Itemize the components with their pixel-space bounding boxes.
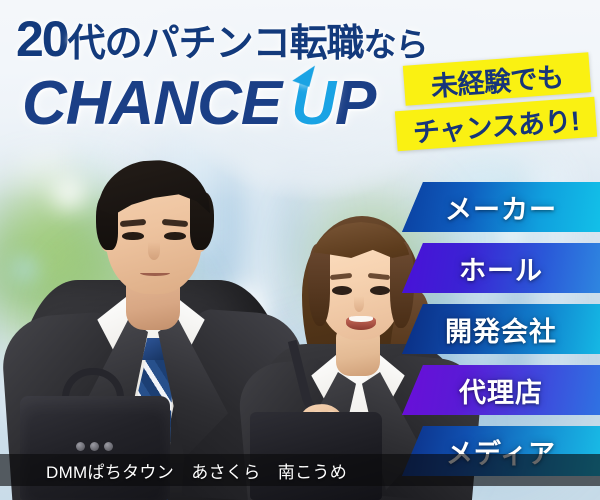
category-label: 開発会社 bbox=[445, 310, 557, 349]
headline-tail: なら bbox=[364, 26, 428, 63]
category-button-agency[interactable]: 代理店 bbox=[402, 365, 600, 415]
man-mouth bbox=[140, 270, 170, 276]
woman-nose bbox=[354, 296, 364, 312]
advertisement-banner[interactable]: 20代のパチンコ転職なら CHANCEUP 未経験でも チャンスあり! メーカー… bbox=[0, 0, 600, 500]
category-button-maker[interactable]: メーカー bbox=[402, 182, 600, 232]
caption-text: DMMぱちタウン あさくら 南こうめ bbox=[46, 458, 347, 483]
headline: 20代のパチンコ転職なら bbox=[16, 14, 428, 66]
category-label: ホール bbox=[459, 249, 543, 288]
man-eye-left bbox=[122, 232, 144, 240]
logo-letter-p: P bbox=[335, 69, 375, 138]
headline-number: 20 bbox=[16, 11, 68, 67]
category-button-development-company[interactable]: 開発会社 bbox=[402, 304, 600, 354]
headline-middle: 代のパチンコ転職 bbox=[68, 23, 364, 65]
woman-eye-right bbox=[370, 286, 390, 295]
logo-text-chance: CHANCE bbox=[22, 69, 281, 138]
category-label: 代理店 bbox=[459, 371, 543, 410]
caption-bar: DMMぱちタウン あさくら 南こうめ bbox=[0, 454, 600, 486]
category-label: メーカー bbox=[445, 188, 557, 227]
category-list: メーカー ホール 開発会社 代理店 メディア bbox=[410, 182, 600, 476]
man-eye-right bbox=[164, 232, 186, 240]
woman-hair-side-left bbox=[308, 244, 330, 326]
woman-eye-left bbox=[332, 286, 352, 295]
chance-up-logo: CHANCEUP bbox=[22, 73, 375, 135]
briefcase-stud bbox=[104, 442, 113, 451]
logo-letter-u: U bbox=[291, 69, 335, 138]
briefcase-stud bbox=[90, 442, 99, 451]
briefcase-stud bbox=[76, 442, 85, 451]
man-nose bbox=[148, 242, 160, 260]
category-button-hall[interactable]: ホール bbox=[402, 243, 600, 293]
